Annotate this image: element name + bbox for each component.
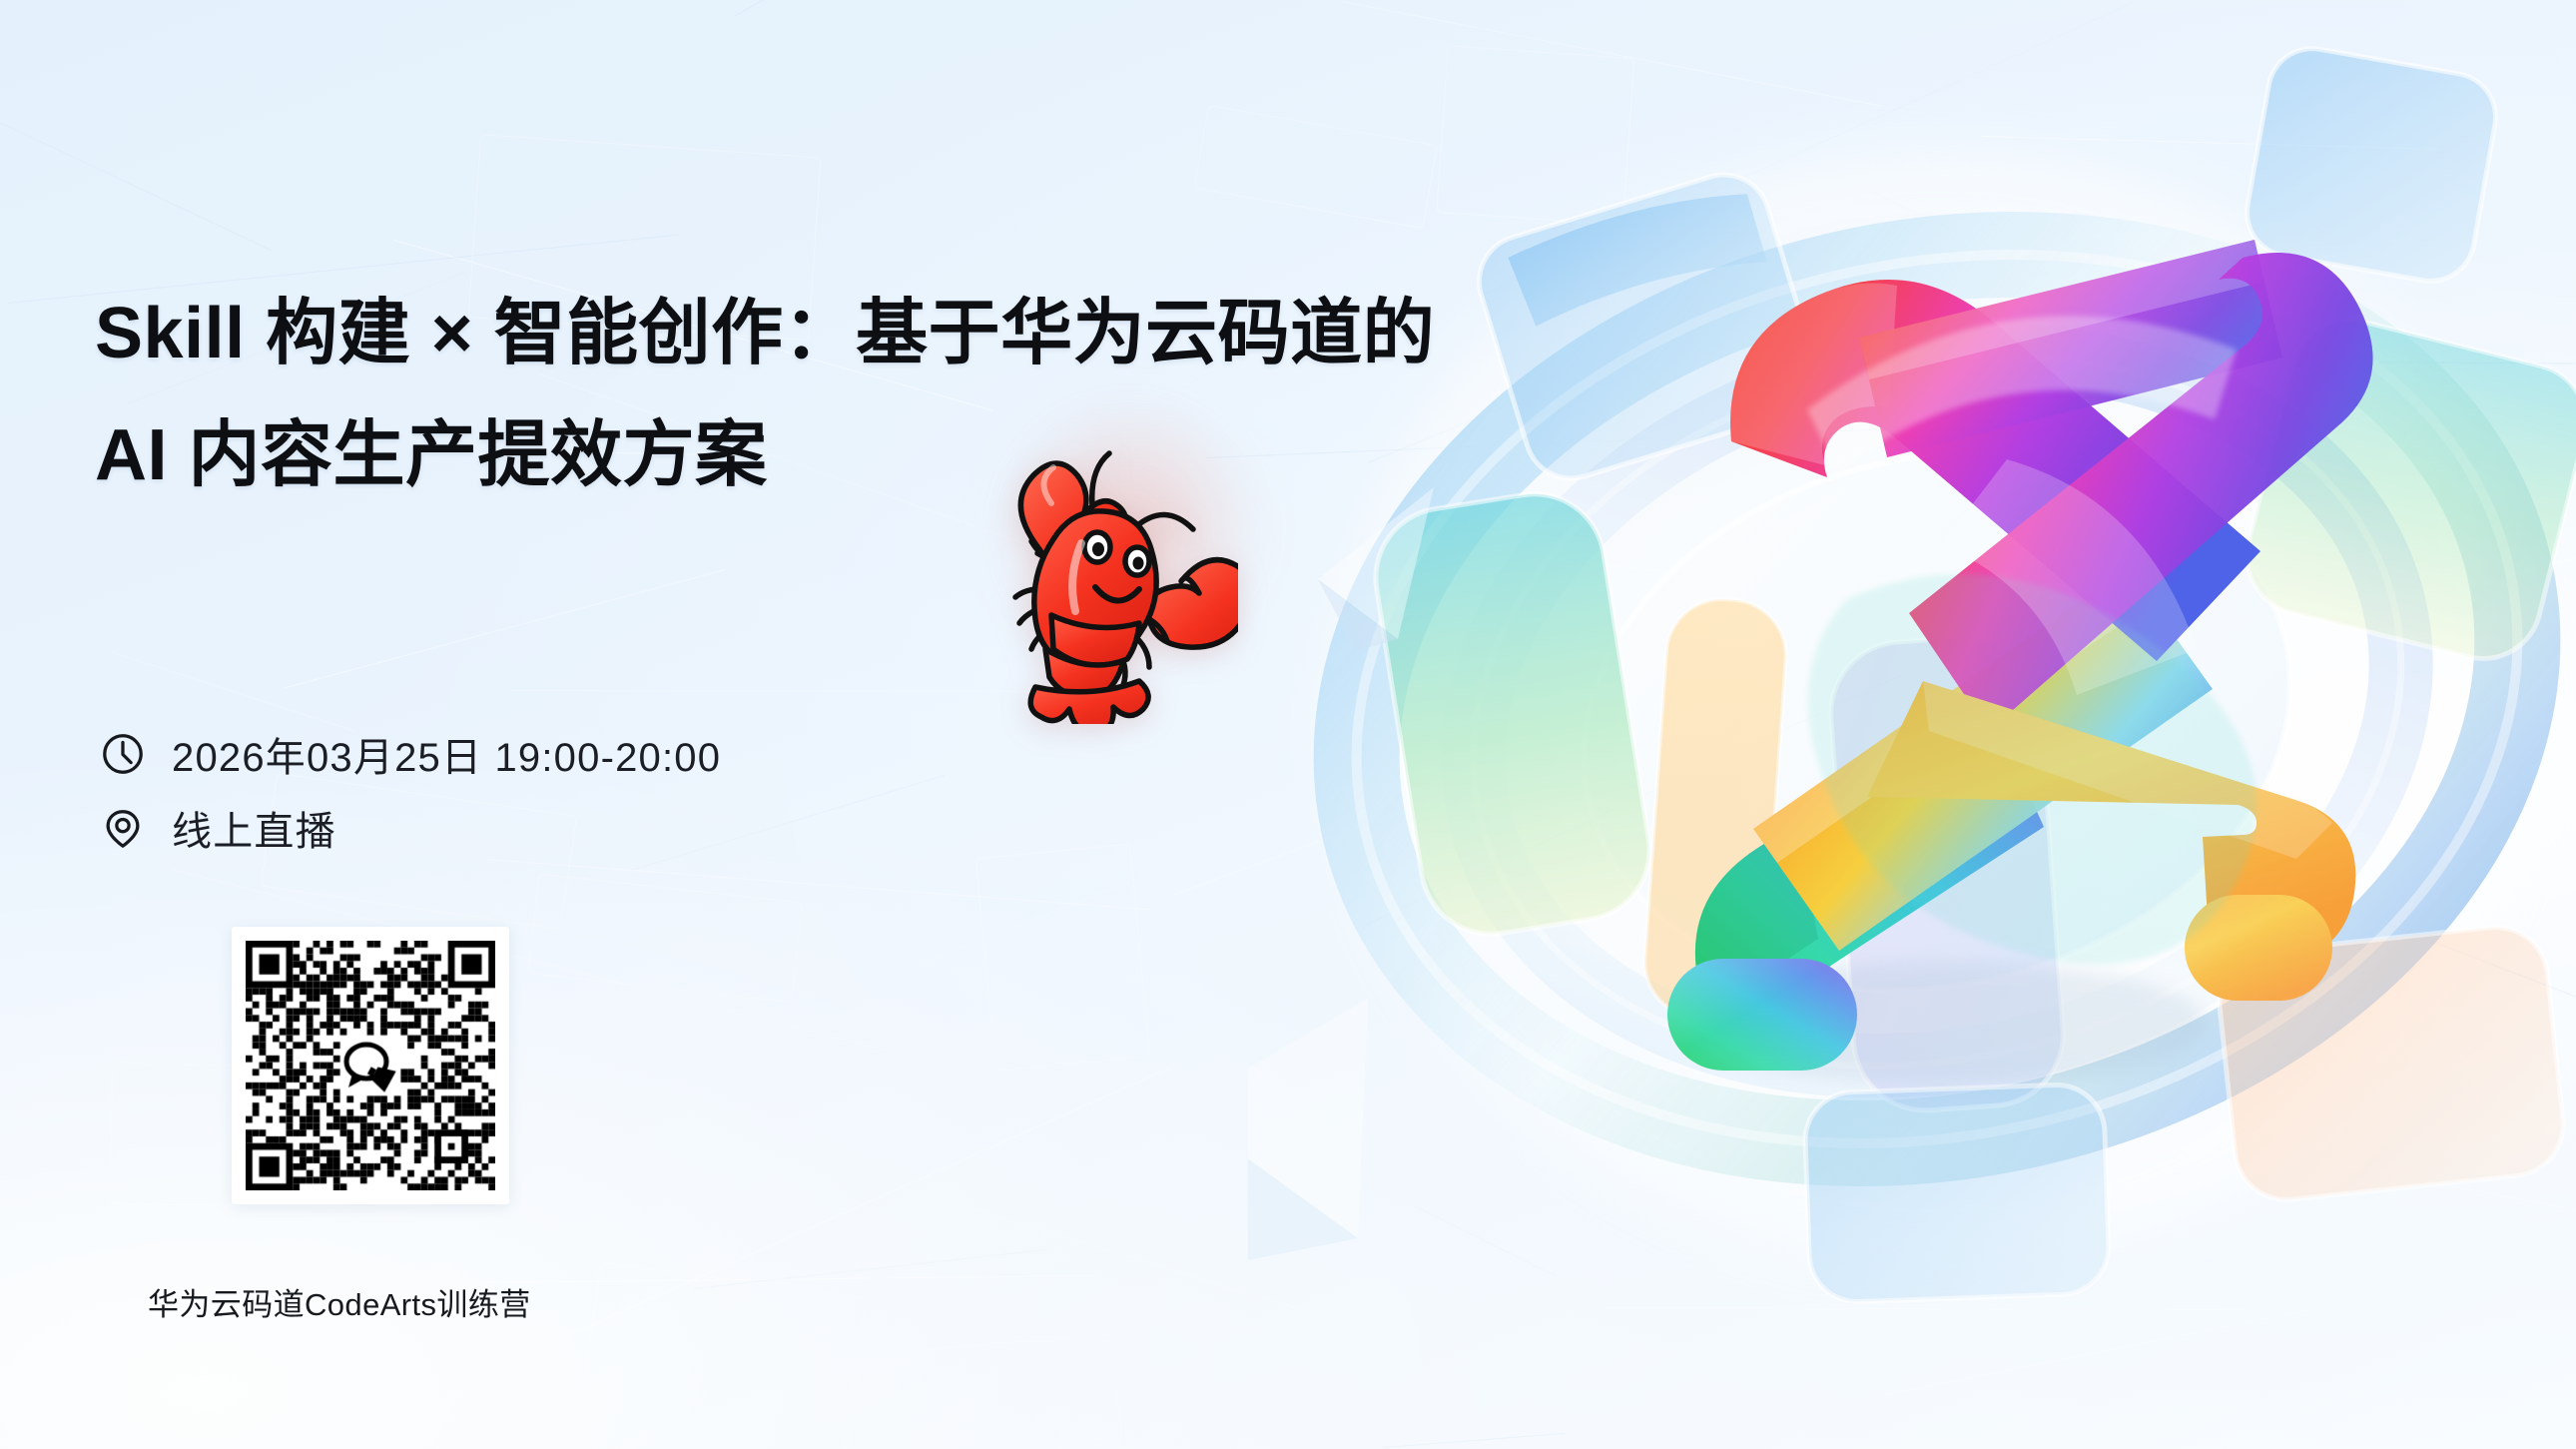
banner-title-line-1: Skill 构建 × 智能创作：基于华为云码道的 [95,298,1435,369]
clock-icon [100,731,146,777]
qr-code-card[interactable] [232,927,509,1204]
qr-code-caption: 华为云码道CodeArts训练营 [148,1279,597,1324]
location-pin-icon [100,805,146,851]
event-datetime-row: 2026年03月25日 19:00-20:00 [100,725,721,783]
event-banner: Skill 构建 × 智能创作：基于华为云码道的 AI 内容生产提效方案 202… [0,0,2576,1449]
event-location-text: 线上直播 [172,799,336,857]
banner-title-line-2: AI 内容生产提效方案 [95,419,768,491]
glass-ribbon-artwork [1248,0,2576,1449]
event-datetime-text: 2026年03月25日 19:00-20:00 [172,725,721,783]
event-location-row: 线上直播 [100,799,336,857]
qr-code-image[interactable] [246,941,495,1190]
lobster-mascot [973,419,1238,724]
